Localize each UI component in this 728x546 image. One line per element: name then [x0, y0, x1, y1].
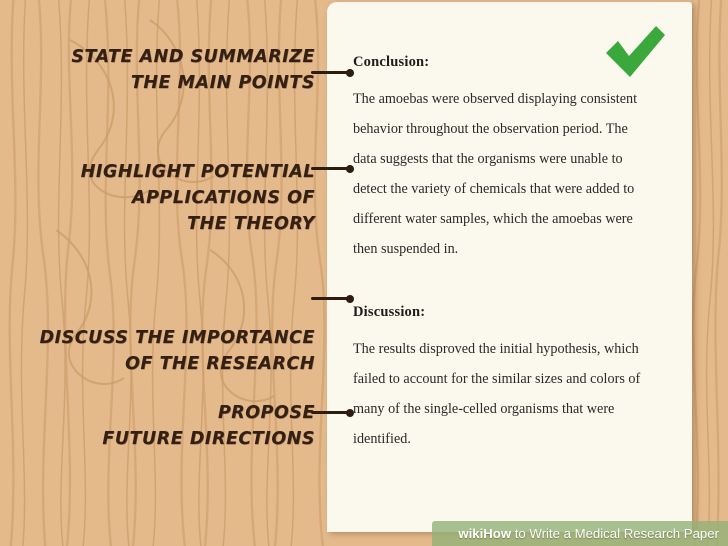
watermark-text: wikiHow to Write a Medical Research Pape…: [458, 526, 719, 541]
leader-line-3: [311, 297, 351, 300]
wikihow-watermark: wikiHow to Write a Medical Research Pape…: [432, 521, 728, 546]
callout-highlight-potential: Highlight Potential Applications of the …: [20, 159, 315, 237]
callout-4-line-1: Propose: [20, 400, 315, 426]
callout-2-line-1: Highlight Potential: [20, 159, 315, 185]
leader-dot-1: [346, 69, 354, 77]
leader-dot-3: [346, 295, 354, 303]
watermark-article-title: to Write a Medical Research Paper: [511, 526, 719, 541]
callout-4-line-2: Future Directions: [20, 426, 315, 452]
section-heading-discussion: Discussion:: [353, 304, 653, 321]
section-text-discussion: The results disproved the initial hypoth…: [353, 334, 653, 454]
illustration-canvas: Conclusion: The amoebas were observed di…: [0, 0, 728, 546]
section-spacer: [353, 264, 653, 304]
green-check-icon: [604, 26, 666, 82]
watermark-brand-wiki: wiki: [458, 526, 483, 541]
callout-3-line-2: of the Research: [20, 351, 315, 377]
callout-state-and-summarize: State and Summarize the Main Points: [20, 44, 315, 96]
leader-line-4: [311, 411, 351, 414]
callout-2-line-2: Applications of: [20, 185, 315, 211]
section-text-conclusion: The amoebas were observed displaying con…: [353, 84, 653, 264]
leader-line-2: [311, 167, 351, 170]
watermark-brand-how: How: [483, 526, 511, 541]
document-body: Conclusion: The amoebas were observed di…: [353, 54, 653, 454]
leader-line-1: [311, 71, 351, 74]
leader-dot-4: [346, 409, 354, 417]
callout-1-line-2: the Main Points: [20, 70, 315, 96]
callout-1-line-1: State and Summarize: [20, 44, 315, 70]
callout-2-line-3: the Theory: [20, 211, 315, 237]
leader-dot-2: [346, 165, 354, 173]
callout-propose-future-directions: Propose Future Directions: [20, 400, 315, 452]
callout-discuss-importance: Discuss the Importance of the Research: [20, 325, 315, 377]
callout-3-line-1: Discuss the Importance: [20, 325, 315, 351]
